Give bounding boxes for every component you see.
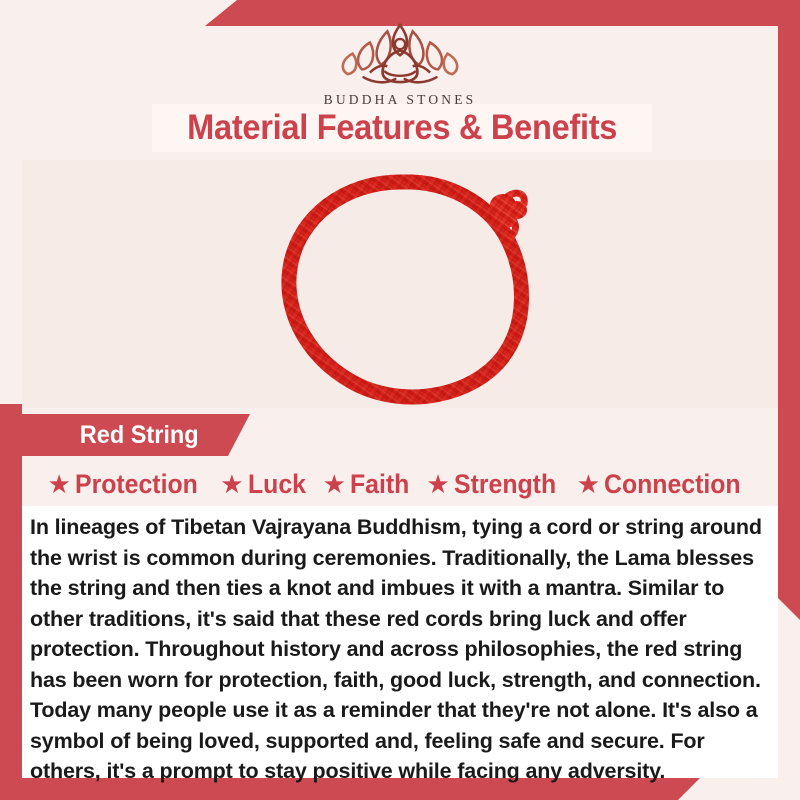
material-label: Red String <box>80 421 199 450</box>
star-icon: ★ <box>577 471 600 497</box>
benefit-label: Strength <box>454 469 556 500</box>
red-string-bracelet-image <box>250 172 550 408</box>
benefit-item-connection: ★ Connection <box>577 469 753 500</box>
star-icon: ★ <box>323 471 346 497</box>
benefits-row: ★ Protection ★ Luck ★ Faith ★ Strength ★… <box>22 463 778 505</box>
star-icon: ★ <box>220 471 243 497</box>
benefit-label: Connection <box>604 469 741 500</box>
product-image-area <box>22 160 778 408</box>
description-text: In lineages of Tibetan Vajrayana Buddhis… <box>30 512 770 787</box>
infographic-page: BUDDHA STONES Material Features & Benefi… <box>0 0 800 800</box>
page-title: Material Features & Benefits <box>187 108 617 148</box>
material-ribbon: Red String <box>22 414 250 456</box>
left-accent-bar <box>0 404 22 800</box>
brand-logo: BUDDHA STONES <box>0 14 800 108</box>
star-icon: ★ <box>47 471 70 497</box>
benefit-item-protection: ★ Protection <box>47 469 208 500</box>
benefit-label: Faith <box>350 469 409 500</box>
benefit-item-strength: ★ Strength <box>426 469 564 500</box>
benefit-label: Protection <box>75 469 198 500</box>
benefit-item-faith: ★ Faith <box>323 469 415 500</box>
title-banner: Material Features & Benefits <box>152 104 652 152</box>
lotus-meditation-icon <box>320 14 480 90</box>
benefit-item-luck: ★ Luck <box>220 469 310 500</box>
benefit-label: Luck <box>248 469 306 500</box>
star-icon: ★ <box>426 471 449 497</box>
description-panel: In lineages of Tibetan Vajrayana Buddhis… <box>22 506 778 778</box>
